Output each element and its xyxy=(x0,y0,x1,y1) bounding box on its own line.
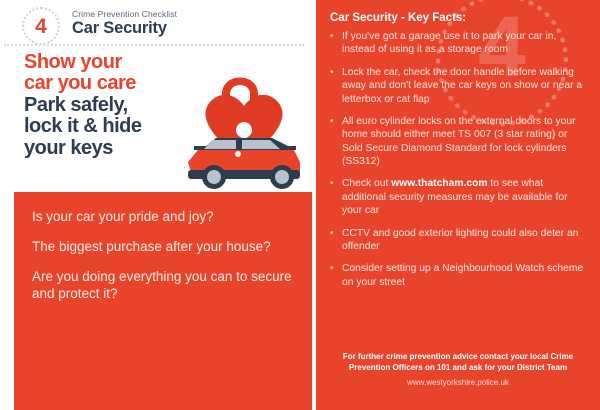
questions-panel: Is your car your pride and joy? The bigg… xyxy=(14,192,312,410)
page-title: Car Security xyxy=(72,19,167,38)
fact-item: All euro cylinder locks on the external … xyxy=(326,115,588,169)
questions-list: Is your car your pride and joy? The bigg… xyxy=(14,192,312,302)
key-facts-panel: 4 Car Security - Key Facts: If you've go… xyxy=(316,0,600,410)
question-2: The biggest purchase after your house? xyxy=(32,238,294,255)
car-door-handle-icon xyxy=(235,151,241,157)
illustration-svg xyxy=(176,50,312,190)
fact-item: Consider setting up a Neighbourhood Watc… xyxy=(326,262,588,289)
panel-footer: For further crime prevention advice cont… xyxy=(330,352,586,387)
thatcham-link[interactable]: www.thatcham.com xyxy=(391,178,487,189)
fact-item: Lock the car, check the door handle befo… xyxy=(326,66,588,106)
step-number: 4 xyxy=(35,16,47,37)
car-hubcap-front-icon xyxy=(207,170,221,184)
fact-item: If you've got a garage use it to park yo… xyxy=(326,30,588,57)
footer-contact-text: For further crime prevention advice cont… xyxy=(330,352,586,373)
thatcham-prefix: Check out xyxy=(342,178,391,189)
car-heart-lock-illustration xyxy=(176,50,312,190)
card-header: 4 Crime Prevention Checklist Car Securit… xyxy=(0,0,312,42)
left-panel: 4 Crime Prevention Checklist Car Securit… xyxy=(0,0,312,410)
step-number-badge: 4 xyxy=(22,7,60,45)
infographic-card: 4 Crime Prevention Checklist Car Securit… xyxy=(0,0,600,410)
fact-item: CCTV and good exterior lighting could al… xyxy=(326,227,588,254)
question-3: Are you doing everything you can to secu… xyxy=(32,268,294,302)
footer-url[interactable]: www.westyorkshire.police.uk xyxy=(330,378,586,387)
header-subtitle: Crime Prevention Checklist xyxy=(72,9,177,19)
question-1: Is your car your pride and joy? xyxy=(32,208,294,225)
key-facts-list: If you've got a garage use it to park yo… xyxy=(326,30,588,298)
car-hubcap-rear-icon xyxy=(275,170,289,184)
fact-item-thatcham: Check out www.thatcham.com to see what a… xyxy=(326,177,588,217)
key-facts-title: Car Security - Key Facts: xyxy=(330,12,466,24)
car-window-front-icon xyxy=(204,140,236,149)
header-divider xyxy=(4,44,304,46)
